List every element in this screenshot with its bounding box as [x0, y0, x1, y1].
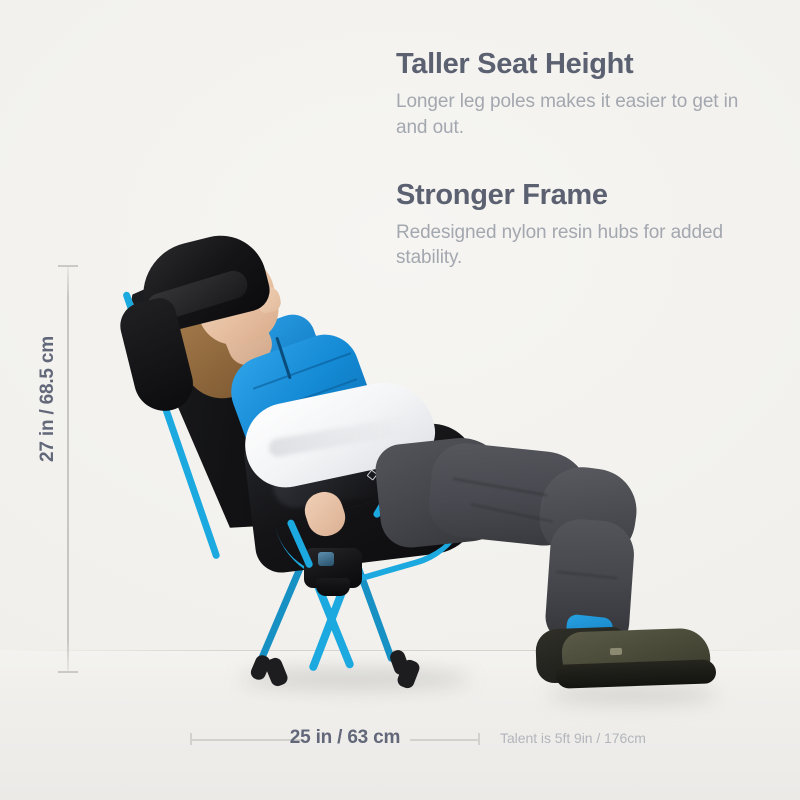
feature-2: Stronger Frame Redesigned nylon resin hu…: [396, 179, 756, 271]
width-tick-right: [478, 733, 480, 745]
height-tick-bottom: [58, 671, 78, 673]
height-dimension-line: [67, 266, 69, 672]
chair-foot-front-left: [263, 656, 289, 688]
height-dimension-label: 27 in / 68.5 cm: [37, 319, 59, 479]
width-dimension-line-right: [410, 739, 480, 741]
chair-hub-lower: [316, 578, 350, 596]
feature-1: Taller Seat Height Longer leg poles make…: [396, 48, 756, 140]
height-tick-top: [58, 265, 78, 267]
talent-height-note: Talent is 5ft 9in / 176cm: [500, 730, 646, 746]
width-dimension-label: 25 in / 63 cm: [285, 727, 405, 749]
feature-copy-block: Taller Seat Height Longer leg poles make…: [396, 48, 756, 270]
shoe-sole: [556, 659, 717, 689]
width-tick-left: [190, 733, 192, 745]
chair-hub-highlight: [318, 552, 334, 566]
feature-2-body: Redesigned nylon resin hubs for added st…: [396, 220, 756, 270]
product-feature-graphic: Helinox: [0, 0, 800, 800]
feature-2-heading: Stronger Frame: [396, 179, 756, 211]
feature-1-body: Longer leg poles makes it easier to get …: [396, 89, 756, 139]
feature-1-heading: Taller Seat Height: [396, 48, 756, 80]
chair-leg-rear-left: [257, 559, 307, 665]
shoe-logo-tag: [610, 648, 622, 655]
